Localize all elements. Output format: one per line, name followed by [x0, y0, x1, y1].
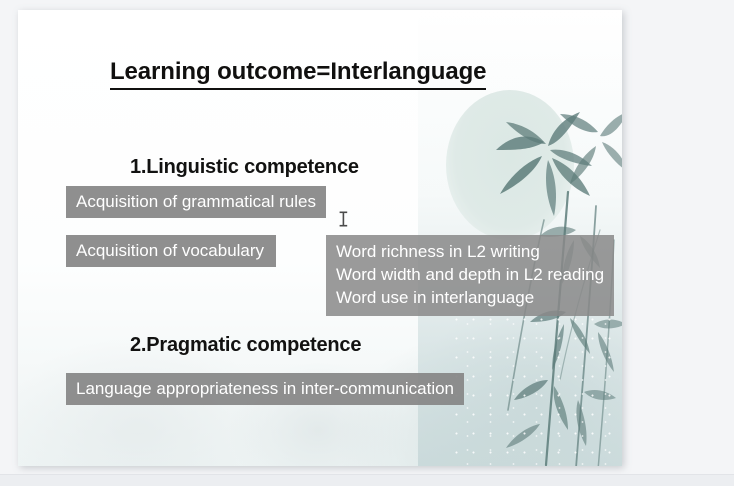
viewer-bottom-strip [0, 475, 734, 486]
heading-linguistic-competence: 1.Linguistic competence [130, 156, 359, 179]
word-line-3: Word use in interlanguage [336, 286, 604, 309]
textbox-acquisition-of-grammatical-rules[interactable]: Acquisition of grammatical rules [66, 186, 326, 218]
textbox-language-appropriateness[interactable]: Language appropriateness in inter-commun… [66, 373, 464, 405]
presentation-slide[interactable]: Learning outcome=Interlanguage 1.Linguis… [18, 10, 622, 466]
slide-title: Learning outcome=Interlanguage [110, 58, 486, 90]
slide-content: Learning outcome=Interlanguage 1.Linguis… [18, 10, 622, 466]
heading-pragmatic-competence: 2.Pragmatic competence [130, 334, 361, 357]
slide-viewer: Learning outcome=Interlanguage 1.Linguis… [0, 0, 734, 486]
textbox-acquisition-of-vocabulary[interactable]: Acquisition of vocabulary [66, 235, 276, 267]
textbox-word-knowledge-list[interactable]: Word richness in L2 writing Word width a… [326, 235, 614, 316]
word-line-2: Word width and depth in L2 reading [336, 263, 604, 286]
word-line-1: Word richness in L2 writing [336, 240, 604, 263]
